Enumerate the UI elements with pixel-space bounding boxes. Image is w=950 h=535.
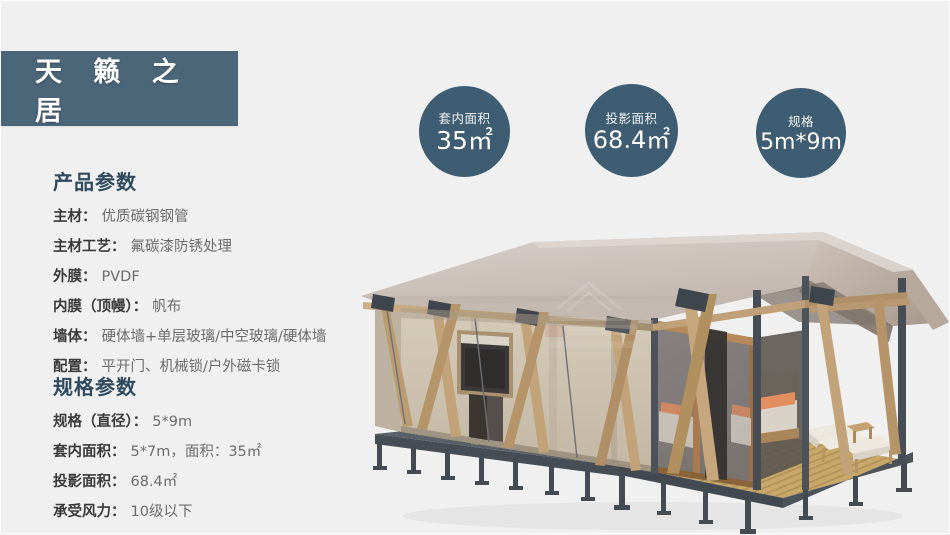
stat-badge-projected-area[interactable]: 投影面积 68.4㎡	[585, 84, 678, 177]
product-params-heading: 产品参数	[53, 166, 383, 195]
spec-row: 墙体： 硬体墙+单层玻璃/中空玻璃/硬体墙	[53, 325, 383, 346]
spec-label: 墙体：	[53, 325, 97, 346]
product-params-panel: 产品参数 主材： 优质碳钢钢管 主材工艺： 氟碳漆防锈处理 外膜： PVDF 内…	[53, 166, 383, 385]
spec-row: 外膜： PVDF	[53, 265, 383, 286]
spec-value: 帆布	[152, 295, 181, 316]
spec-row: 套内面积： 5*7m，面积：35㎡	[53, 440, 383, 461]
spec-label: 主材：	[53, 205, 97, 226]
spec-row: 规格（直径）： 5*9m	[53, 410, 383, 431]
stat-badge-interior-area[interactable]: 套内面积 35㎡	[419, 86, 510, 177]
spec-value: 5*7m，面积：35㎡	[131, 440, 262, 461]
badge-label: 规格	[788, 111, 814, 130]
spec-value: 10级以下	[131, 500, 193, 521]
badge-label: 套内面积	[438, 108, 490, 127]
spec-row: 承受风力： 10级以下	[53, 500, 383, 521]
tent-render-image	[353, 226, 950, 535]
title-banner: 天 籁 之 居	[1, 51, 238, 126]
badge-value: 35㎡	[436, 128, 493, 154]
spec-row: 投影面积： 68.4㎡	[53, 470, 383, 491]
spec-label: 外膜：	[53, 265, 97, 286]
spec-value: 68.4㎡	[131, 470, 178, 491]
interior-bed	[757, 392, 799, 444]
spec-row: 主材工艺： 氟碳漆防锈处理	[53, 235, 383, 256]
spec-label: 内膜（顶幔）：	[53, 295, 147, 316]
spec-label: 主材工艺：	[53, 235, 126, 256]
spec-label: 套内面积：	[53, 440, 126, 461]
spec-label: 规格（直径）：	[53, 410, 147, 431]
spec-value: 硬体墙+单层玻璃/中空玻璃/硬体墙	[102, 325, 327, 346]
spec-value: PVDF	[102, 269, 140, 285]
spec-value: 5*9m	[152, 414, 192, 430]
spec-row: 内膜（顶幔）： 帆布	[53, 295, 383, 316]
spec-params-panel: 规格参数 规格（直径）： 5*9m 套内面积： 5*7m，面积：35㎡ 投影面积…	[53, 371, 383, 530]
spec-params-list: 规格（直径）： 5*9m 套内面积： 5*7m，面积：35㎡ 投影面积： 68.…	[53, 410, 383, 521]
spec-value: 优质碳钢钢管	[102, 205, 189, 226]
spec-label: 承受风力：	[53, 500, 126, 521]
badge-value: 5m*9m	[760, 131, 842, 154]
window-left	[457, 330, 513, 398]
badge-value: 68.4㎡	[593, 128, 670, 153]
spec-params-heading: 规格参数	[53, 371, 383, 400]
stat-badge-dimensions[interactable]: 规格 5m*9m	[756, 88, 846, 178]
badge-label: 投影面积	[605, 108, 657, 127]
spec-row: 主材： 优质碳钢钢管	[53, 205, 383, 226]
page-root: 天 籁 之 居 产品参数 主材： 优质碳钢钢管 主材工艺： 氟碳漆防锈处理 外膜…	[0, 0, 950, 534]
page-title: 天 籁 之 居	[1, 50, 238, 128]
spec-label: 投影面积：	[53, 470, 126, 491]
tent-illustration	[353, 226, 950, 535]
spec-value: 氟碳漆防锈处理	[131, 235, 233, 256]
product-params-list: 主材： 优质碳钢钢管 主材工艺： 氟碳漆防锈处理 外膜： PVDF 内膜（顶幔）…	[53, 205, 383, 376]
